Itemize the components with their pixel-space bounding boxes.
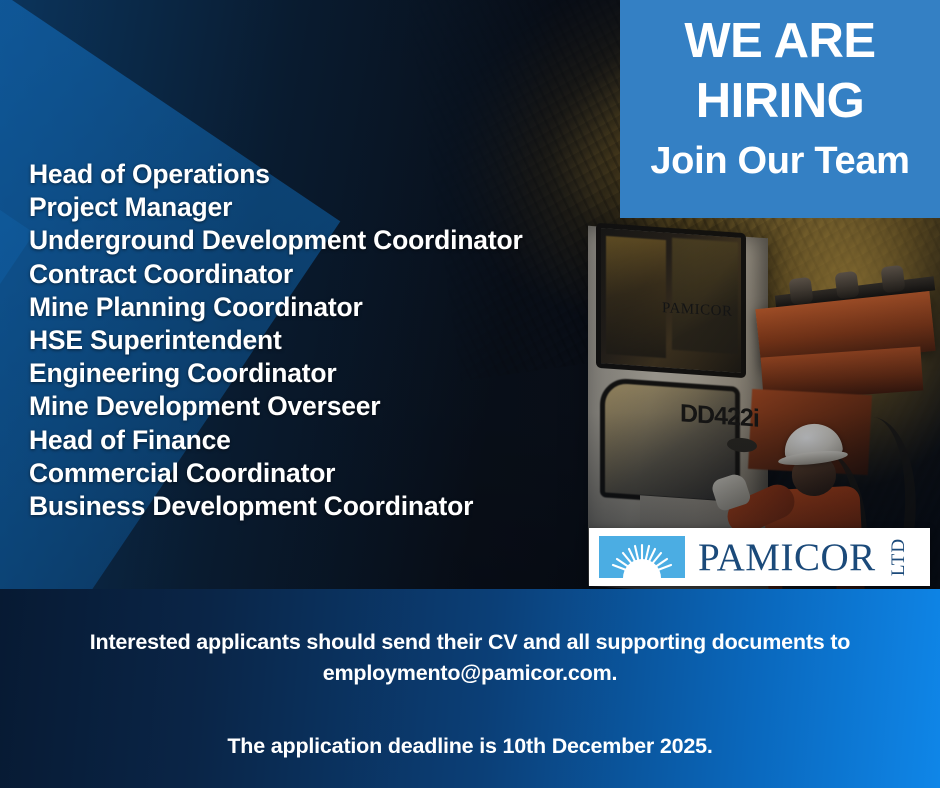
job-title-item: Project Manager	[29, 191, 639, 224]
job-title-item: Contract Coordinator	[29, 258, 639, 291]
join-our-team-subtitle: Join Our Team	[650, 138, 909, 186]
job-title-item: Head of Operations	[29, 158, 639, 191]
job-advert-poster: PAMICOR DD422i WE ARE HIRING Join Our Te…	[0, 0, 940, 788]
job-title-item: Head of Finance	[29, 424, 639, 457]
job-title-item: HSE Superintendent	[29, 324, 639, 357]
job-title-item: Mine Planning Coordinator	[29, 291, 639, 324]
job-title-item: Business Development Coordinator	[29, 490, 639, 523]
application-instruction: Interested applicants should send their …	[25, 627, 915, 689]
job-titles-list: Head of Operations Project Manager Under…	[29, 158, 639, 523]
pamicor-logo: PAMICOR LTD	[589, 528, 930, 586]
job-title-item: Commercial Coordinator	[29, 457, 639, 490]
job-title-item: Engineering Coordinator	[29, 357, 639, 390]
we-are-hiring-banner: WE ARE HIRING Join Our Team	[620, 0, 940, 218]
logo-wordmark: PAMICOR	[698, 538, 876, 577]
footer-band: Interested applicants should send their …	[0, 589, 940, 788]
hiring-headline-line1: WE ARE	[684, 12, 875, 72]
logo-ltd-suffix: LTD	[888, 538, 910, 576]
sunrise-icon	[599, 536, 685, 578]
job-title-item: Underground Development Coordinator	[29, 224, 639, 257]
job-title-item: Mine Development Overseer	[29, 390, 639, 423]
application-deadline: The application deadline is 10th Decembe…	[227, 734, 712, 759]
hiring-headline-line2: HIRING	[696, 72, 865, 132]
